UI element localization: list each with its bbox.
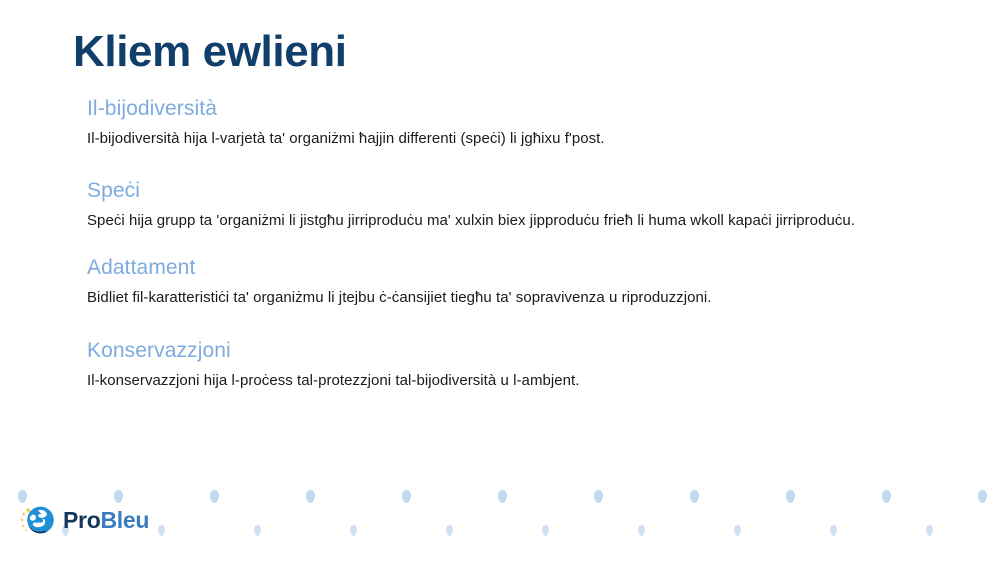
probleu-logo: ProBleu — [18, 501, 149, 539]
term-definition: Il-konservazzjoni hija l-proċess tal-pro… — [87, 371, 887, 391]
term-definition: Speċi hija grupp ta 'organiżmi li jistgħ… — [87, 211, 887, 231]
term-heading: Adattament — [87, 255, 947, 282]
water-droplet-icon — [882, 490, 891, 503]
term-block: Speċi Speċi hija grupp ta 'organiżmi li … — [87, 178, 947, 231]
term-definition: Il-bijodiversità hija l-varjetà ta' orga… — [87, 129, 887, 149]
water-droplet-icon — [158, 525, 165, 536]
water-droplet-icon — [926, 525, 933, 536]
water-droplet-icon — [734, 525, 741, 536]
logo-text-pro: Pro — [63, 507, 100, 533]
term-heading: Speċi — [87, 178, 947, 205]
water-droplet-icon — [978, 490, 987, 503]
water-droplet-icon — [498, 490, 507, 503]
probleu-globe-icon — [18, 501, 56, 539]
water-droplet-icon — [830, 525, 837, 536]
water-droplet-icon — [254, 525, 261, 536]
water-droplet-icon — [690, 490, 699, 503]
droplet-decoration — [0, 483, 1000, 563]
water-droplet-icon — [542, 525, 549, 536]
term-block: Konservazzjoni Il-konservazzjoni hija l-… — [87, 338, 947, 391]
term-definition: Bidliet fil-karatteristiċi ta' organiżmu… — [87, 288, 887, 308]
slide-root: Kliem ewlieni Il-bijodiversità Il-bijodi… — [0, 0, 1000, 563]
term-block: Il-bijodiversità Il-bijodiversità hija l… — [87, 96, 947, 149]
page-title: Kliem ewlieni — [73, 27, 347, 76]
term-heading: Il-bijodiversità — [87, 96, 947, 123]
term-block: Adattament Bidliet fil-karatteristiċi ta… — [87, 255, 947, 308]
water-droplet-icon — [210, 490, 219, 503]
water-droplet-icon — [306, 490, 315, 503]
water-droplet-icon — [638, 525, 645, 536]
term-heading: Konservazzjoni — [87, 338, 947, 365]
water-droplet-icon — [446, 525, 453, 536]
key-terms-list: Il-bijodiversità Il-bijodiversità hija l… — [87, 96, 947, 391]
logo-text-bleu: Bleu — [100, 507, 149, 533]
probleu-wordmark: ProBleu — [63, 509, 149, 532]
water-droplet-icon — [350, 525, 357, 536]
water-droplet-icon — [402, 490, 411, 503]
slide-footer: ProBleu — [0, 483, 1000, 563]
water-droplet-icon — [594, 490, 603, 503]
water-droplet-icon — [786, 490, 795, 503]
